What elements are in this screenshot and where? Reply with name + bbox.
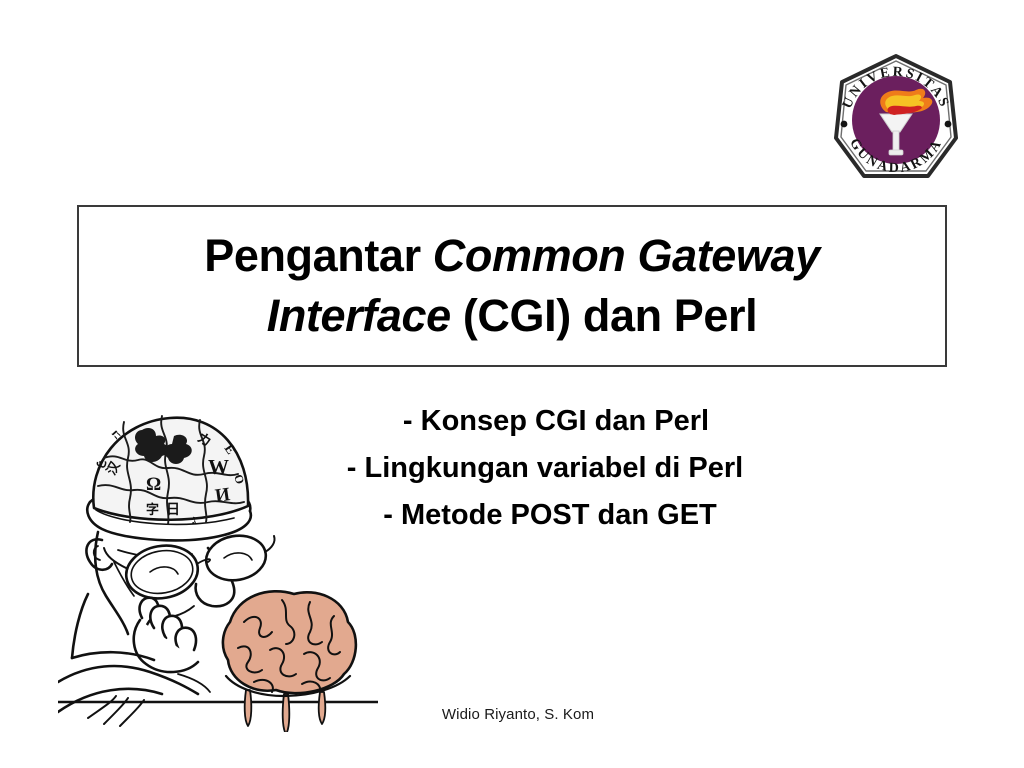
- title-text-interface: Interface: [267, 290, 451, 341]
- globe-glyph-omega: Ω: [146, 474, 161, 495]
- bullet-label-3: Metode POST dan GET: [401, 499, 717, 531]
- hand-icon: [134, 598, 198, 672]
- bullet-dash-3: -: [383, 499, 401, 531]
- title-box: Pengantar Common Gateway Interface (CGI)…: [77, 205, 947, 367]
- bullet-label-1: Konsep CGI dan Perl: [421, 405, 709, 437]
- title-text-common-gateway: Common Gateway: [433, 230, 820, 281]
- slide-canvas: UNIVERSITAS GUNADARMA: [0, 0, 1024, 768]
- globe-glyph-kanji: 日: [166, 502, 180, 518]
- title-text-pengantar: Pengantar: [204, 230, 433, 281]
- footer-author: Widio Riyanto, S. Kom: [0, 706, 1024, 723]
- glasses-icon: [104, 531, 275, 604]
- title-line-1: Pengantar Common Gateway: [204, 226, 820, 286]
- cartoon-illustration: W Ω И 汉 日 字 カ E О ה ع ג: [58, 382, 378, 732]
- logo-dot-left-icon: [841, 121, 848, 128]
- globe-glyph-w: W: [208, 455, 229, 479]
- bullet-label-2: Lingkungan variabel di Perl: [365, 452, 744, 484]
- bullet-dash-1: -: [403, 405, 421, 437]
- globe-glyph-l: ג: [192, 512, 196, 527]
- wikipedia-puzzle-globe-icon: W Ω И 汉 日 字 カ E О ה ع ג: [91, 416, 248, 527]
- title-line-2: Interface (CGI) dan Perl: [267, 286, 758, 346]
- university-logo: UNIVERSITAS GUNADARMA: [828, 52, 964, 188]
- logo-dot-right-icon: [945, 121, 952, 128]
- globe-glyph-i: И: [214, 484, 232, 507]
- globe-glyph-cjk2: 字: [146, 502, 159, 517]
- title-text-cgi-dan-perl: (CGI) dan Perl: [451, 290, 758, 341]
